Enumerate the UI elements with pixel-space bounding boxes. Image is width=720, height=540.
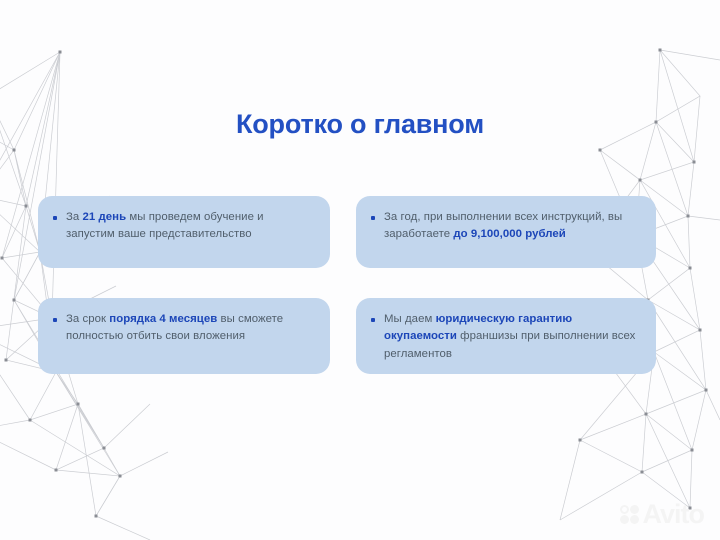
card-legal-guarantee: Мы даем юридическую гарантию окупаемости… xyxy=(356,298,656,374)
card-payback-period: За срок порядка 4 месяцев вы сможете пол… xyxy=(38,298,330,374)
bullet-icon xyxy=(53,318,57,322)
page-title: Коротко о главном xyxy=(0,110,720,140)
card-text: За срок порядка 4 месяцев вы сможете пол… xyxy=(66,311,314,346)
bullet-icon xyxy=(53,216,57,220)
cards-grid: За 21 день мы проведем обучение и запуст… xyxy=(38,196,658,396)
card-text: Мы даем юридическую гарантию окупаемости… xyxy=(384,311,640,363)
card-text: За 21 день мы проведем обучение и запуст… xyxy=(66,209,314,244)
bullet-icon xyxy=(371,216,375,220)
avito-watermark-label: Avito xyxy=(643,501,705,528)
bullet-icon xyxy=(371,318,375,322)
avito-watermark: Avito xyxy=(620,501,705,528)
card-yearly-earnings: За год, при выполнении всех инструкций, … xyxy=(356,196,656,268)
avito-logo-icon xyxy=(620,505,639,524)
card-training-launch: За 21 день мы проведем обучение и запуст… xyxy=(38,196,330,268)
slide-canvas: Коротко о главном За 21 день мы проведем… xyxy=(0,0,720,540)
card-text: За год, при выполнении всех инструкций, … xyxy=(384,209,640,244)
